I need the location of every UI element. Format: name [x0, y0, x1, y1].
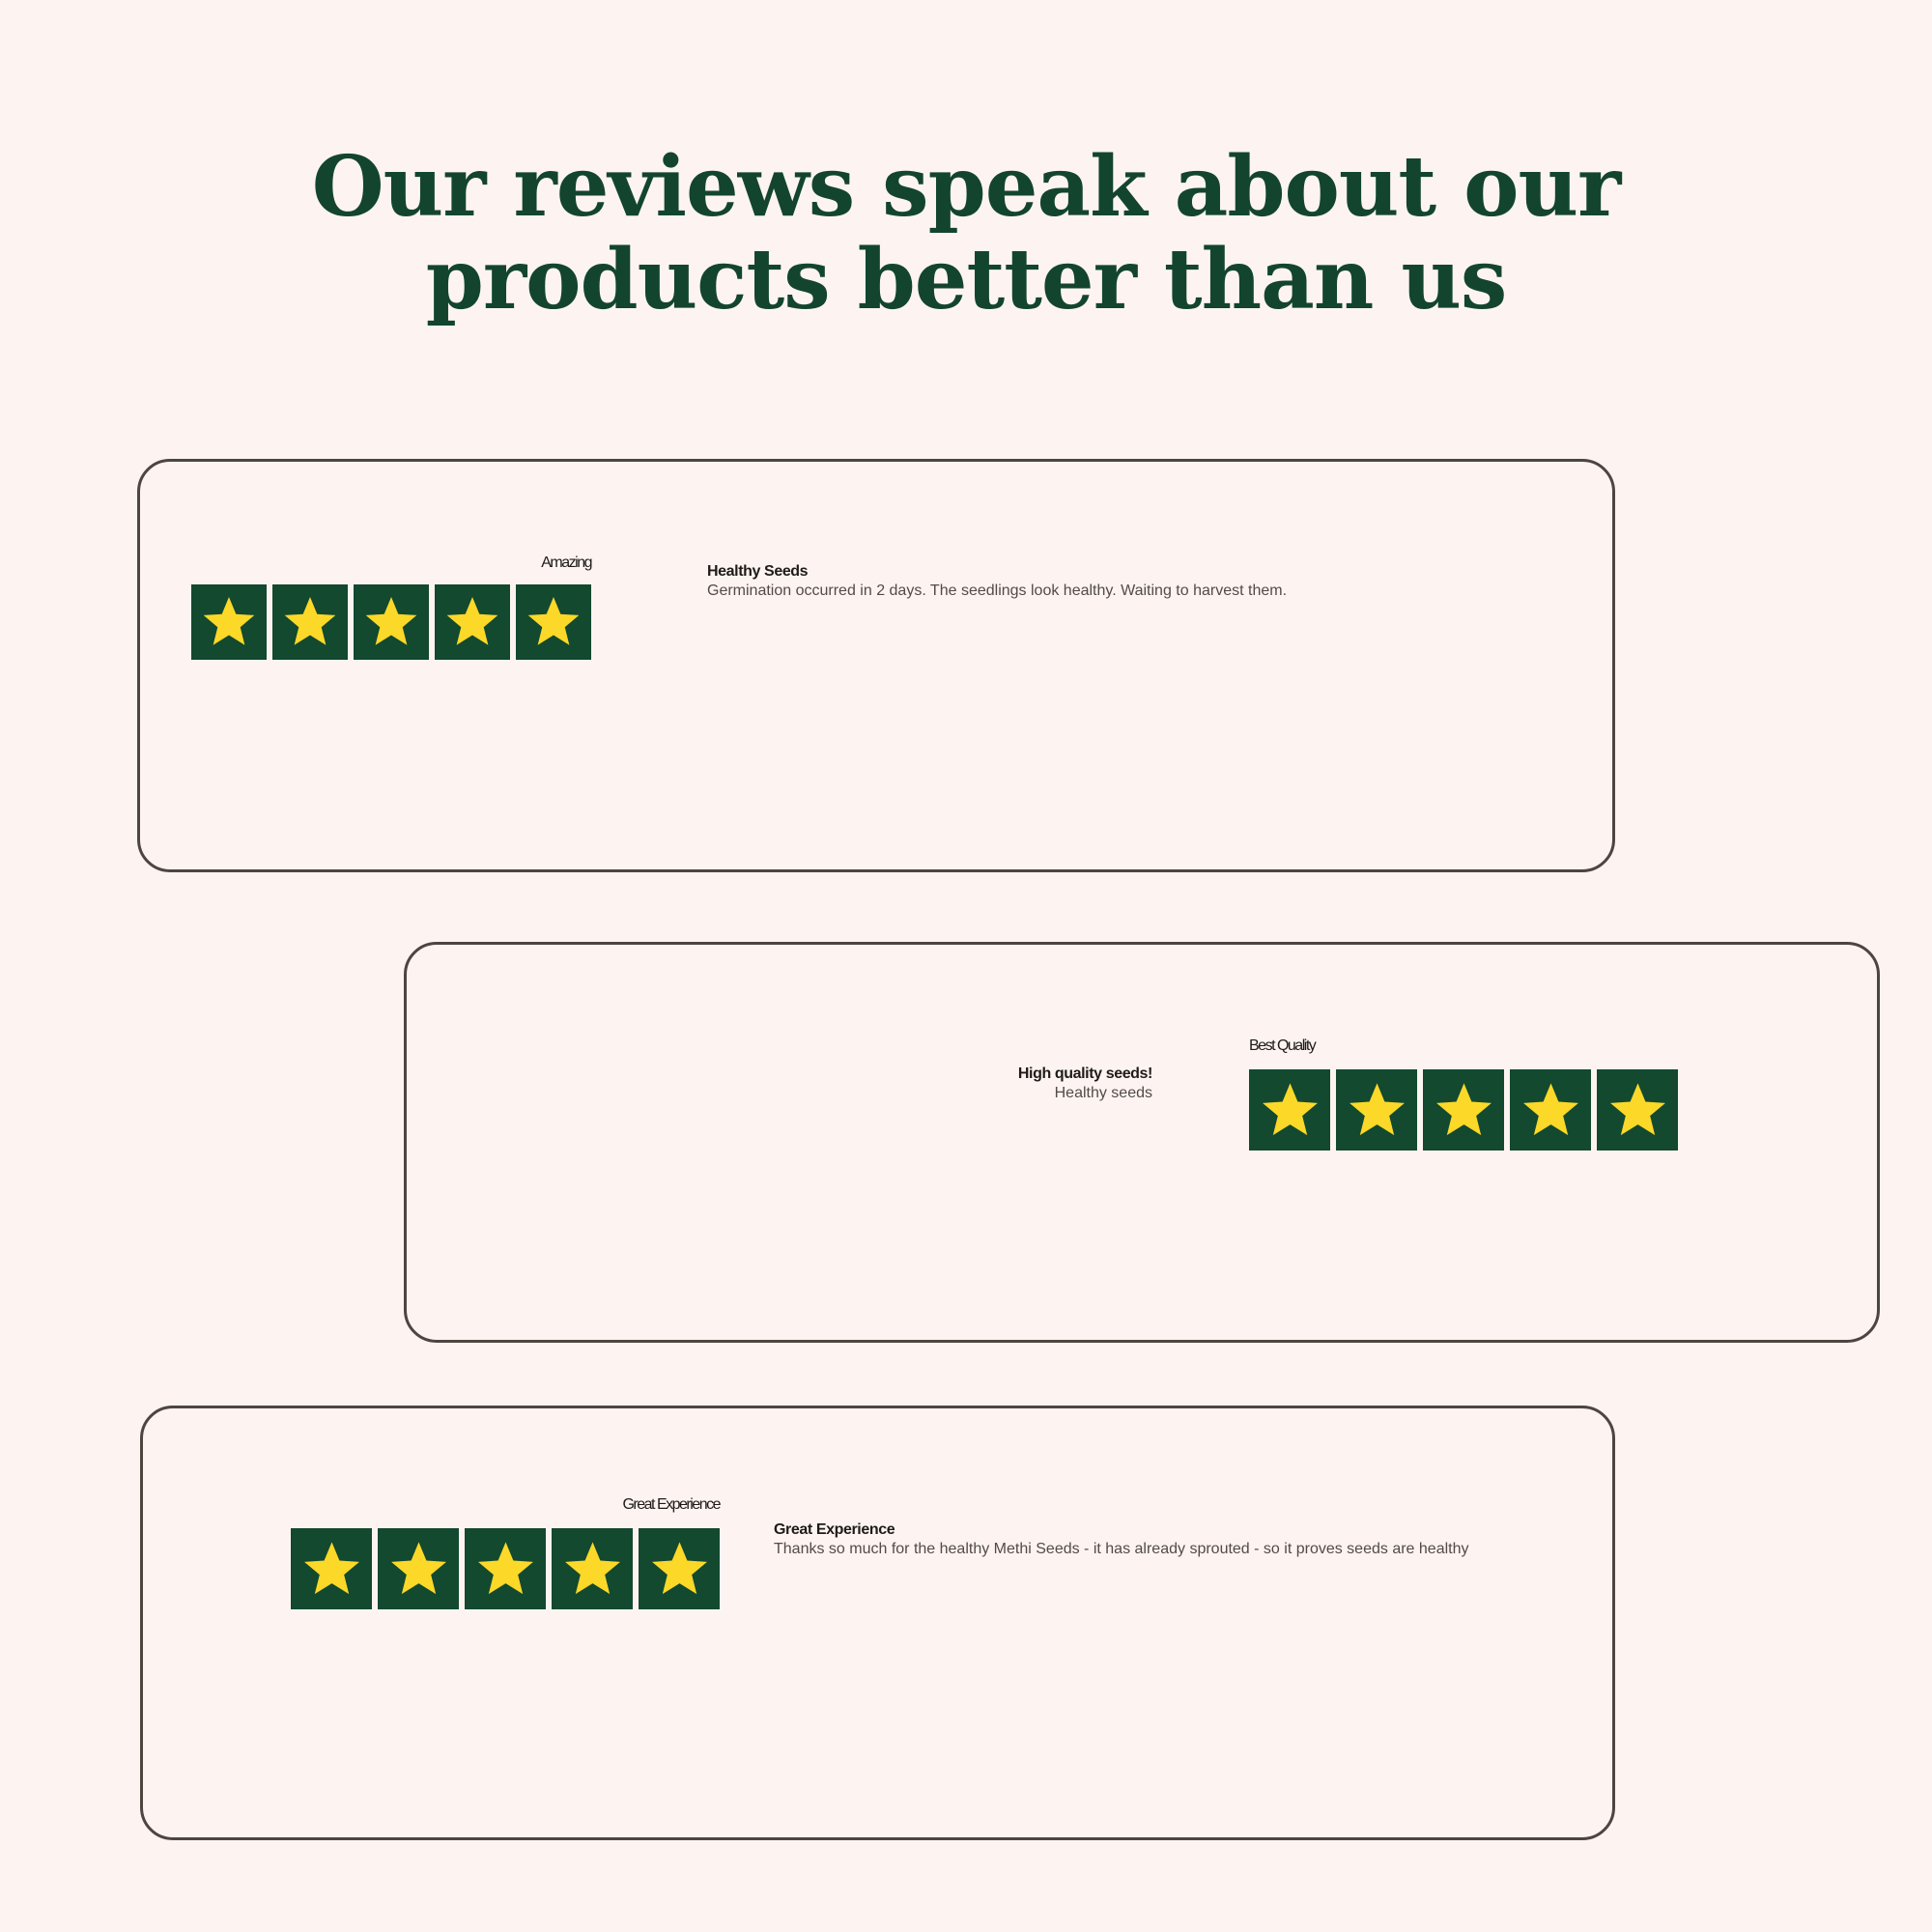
review-card-3: [140, 1406, 1615, 1840]
review-text-1: Healthy Seeds Germination occurred in 2 …: [707, 555, 1287, 601]
star-icon: [1336, 1069, 1417, 1151]
star-icon: [1423, 1069, 1504, 1151]
review-card-2-content: High quality seeds! Healthy seeds Best Q…: [404, 1038, 1880, 1151]
star-rating-3: [291, 1528, 720, 1609]
review-body-3: Thanks so much for the healthy Methi See…: [774, 1539, 1468, 1559]
review-body-2: Healthy seeds: [1055, 1083, 1152, 1103]
star-icon: [378, 1528, 459, 1609]
star-icon: [435, 584, 510, 660]
star-icon: [1249, 1069, 1330, 1151]
star-icon: [1510, 1069, 1591, 1151]
review-card-1-content: Amazing Healthy Seeds Germination occurr…: [137, 555, 1615, 660]
rating-block-1: Amazing: [137, 555, 603, 660]
star-icon: [552, 1528, 633, 1609]
star-icon: [1597, 1069, 1678, 1151]
star-rating-2: [1249, 1069, 1678, 1151]
star-icon: [465, 1528, 546, 1609]
reviews-page: Our reviews speak about our products bet…: [0, 0, 1932, 1932]
star-icon: [291, 1528, 372, 1609]
review-card-1: [137, 459, 1615, 872]
review-text-2: High quality seeds! Healthy seeds: [404, 1038, 1152, 1103]
rating-block-2: Best Quality: [1249, 1038, 1678, 1151]
star-icon: [354, 584, 429, 660]
review-body-1: Germination occurred in 2 days. The seed…: [707, 581, 1287, 601]
review-title-2: High quality seeds!: [1018, 1065, 1152, 1083]
star-icon: [272, 584, 348, 660]
star-icon: [516, 584, 591, 660]
rating-word-1: Amazing: [541, 555, 591, 571]
star-icon: [639, 1528, 720, 1609]
star-rating-1: [191, 584, 591, 660]
review-card-3-content: Great Experience Great Experience Thanks…: [140, 1497, 1615, 1609]
page-title: Our reviews speak about our products bet…: [0, 141, 1932, 327]
review-title-1: Healthy Seeds: [707, 563, 808, 581]
review-title-3: Great Experience: [774, 1521, 895, 1539]
rating-block-3: Great Experience: [140, 1497, 727, 1609]
rating-word-3: Great Experience: [622, 1497, 720, 1513]
star-icon: [191, 584, 267, 660]
review-text-3: Great Experience Thanks so much for the …: [774, 1497, 1468, 1559]
rating-word-2: Best Quality: [1249, 1038, 1315, 1054]
